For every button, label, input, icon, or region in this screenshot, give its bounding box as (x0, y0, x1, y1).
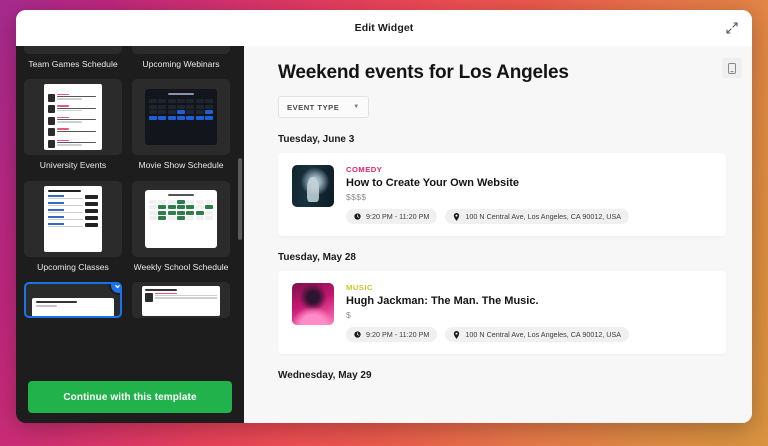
event-category: COMEDY (346, 165, 712, 174)
template-card-weekly-school-schedule[interactable]: Weekly School Schedule (132, 181, 230, 272)
chevron-down-icon: ▼ (353, 104, 359, 110)
event-location-text: 100 N Central Ave, Los Angeles, CA 90012… (465, 212, 621, 221)
event-location-text: 100 N Central Ave, Los Angeles, CA 90012… (465, 330, 621, 339)
location-pin-icon (453, 213, 460, 221)
template-scroll-area: Team Games Schedule Upcoming Webinars (16, 46, 238, 371)
edit-widget-window: Edit Widget Team Games Schedule Upcomin (16, 10, 752, 423)
window-body: Team Games Schedule Upcoming Webinars (16, 46, 752, 423)
thumbnail-preview (44, 84, 102, 150)
event-category: MUSIC (346, 283, 712, 292)
sidebar-scrollbar[interactable] (238, 50, 242, 367)
event-type-filter-label: EVENT TYPE (287, 103, 339, 112)
template-card-event-list[interactable] (132, 282, 230, 323)
event-price: $$$$ (346, 192, 712, 202)
location-pin-icon (453, 331, 460, 339)
template-thumbnail[interactable] (132, 46, 230, 54)
template-grid: Team Games Schedule Upcoming Webinars (24, 46, 230, 323)
check-circle-icon (111, 282, 122, 293)
template-thumbnail[interactable] (24, 79, 122, 155)
date-heading: Tuesday, May 28 (278, 252, 726, 263)
thumbnail-preview (145, 89, 217, 145)
thumbnail-preview (145, 190, 217, 248)
template-label: Weekly School Schedule (134, 262, 229, 272)
date-heading: Wednesday, May 29 (278, 370, 726, 381)
mobile-device-icon[interactable] (722, 58, 742, 78)
event-time-chip: 9:20 PM - 11:20 PM (346, 327, 437, 342)
event-meta-chips: 9:20 PM - 11:20 PM 100 N Central Ave, Lo… (346, 209, 712, 224)
template-thumbnail[interactable] (132, 282, 230, 318)
thumbnail-preview (44, 186, 102, 252)
event-location-chip: 100 N Central Ave, Los Angeles, CA 90012… (445, 327, 629, 342)
event-location-chip: 100 N Central Ave, Los Angeles, CA 90012… (445, 209, 629, 224)
template-label: Upcoming Webinars (142, 59, 219, 69)
expand-arrows-icon[interactable] (722, 18, 742, 38)
event-title: How to Create Your Own Website (346, 177, 712, 189)
event-details: MUSIC Hugh Jackman: The Man. The Music. … (346, 283, 712, 342)
template-card-movie-show-schedule[interactable]: Movie Show Schedule (132, 79, 230, 170)
thumbnail-preview (32, 298, 114, 318)
template-thumbnail[interactable] (132, 181, 230, 257)
template-card-upcoming-webinars[interactable]: Upcoming Webinars (132, 46, 230, 69)
event-details: COMEDY How to Create Your Own Website $$… (346, 165, 712, 224)
event-type-filter[interactable]: EVENT TYPE ▼ (278, 96, 369, 118)
template-thumbnail[interactable] (24, 181, 122, 257)
template-label: Upcoming Classes (37, 262, 109, 272)
event-title: Hugh Jackman: The Man. The Music. (346, 295, 712, 307)
window-title: Edit Widget (355, 22, 414, 34)
event-time-text: 9:20 PM - 11:20 PM (366, 212, 429, 221)
event-card[interactable]: MUSIC Hugh Jackman: The Man. The Music. … (278, 271, 726, 354)
template-thumbnail[interactable] (132, 79, 230, 155)
event-thumbnail (292, 283, 334, 325)
sidebar-scrollbar-thumb[interactable] (238, 158, 242, 240)
template-card-upcoming-classes[interactable]: Upcoming Classes (24, 181, 122, 272)
template-card-selected[interactable] (24, 282, 122, 323)
continue-with-template-button[interactable]: Continue with this template (28, 381, 232, 413)
thumbnail-preview (142, 286, 220, 316)
event-thumbnail (292, 165, 334, 207)
event-time-text: 9:20 PM - 11:20 PM (366, 330, 429, 339)
date-heading: Tuesday, June 3 (278, 134, 726, 145)
template-label: Team Games Schedule (28, 59, 117, 69)
event-card[interactable]: COMEDY How to Create Your Own Website $$… (278, 153, 726, 236)
template-thumbnail[interactable] (24, 282, 122, 318)
widget-preview-pane: Weekend events for Los Angeles EVENT TYP… (244, 46, 752, 423)
template-card-university-events[interactable]: University Events (24, 79, 122, 170)
template-label: Movie Show Schedule (138, 160, 223, 170)
sidebar-footer: Continue with this template (16, 371, 244, 423)
template-thumbnail[interactable] (24, 46, 122, 54)
clock-icon (354, 331, 361, 338)
event-time-chip: 9:20 PM - 11:20 PM (346, 209, 437, 224)
event-meta-chips: 9:20 PM - 11:20 PM 100 N Central Ave, Lo… (346, 327, 712, 342)
template-card-team-games-schedule[interactable]: Team Games Schedule (24, 46, 122, 69)
clock-icon (354, 213, 361, 220)
template-sidebar: Team Games Schedule Upcoming Webinars (16, 46, 244, 423)
event-price: $ (346, 310, 712, 320)
page-title: Weekend events for Los Angeles (278, 62, 726, 84)
window-titlebar: Edit Widget (16, 10, 752, 46)
template-label: University Events (40, 160, 106, 170)
